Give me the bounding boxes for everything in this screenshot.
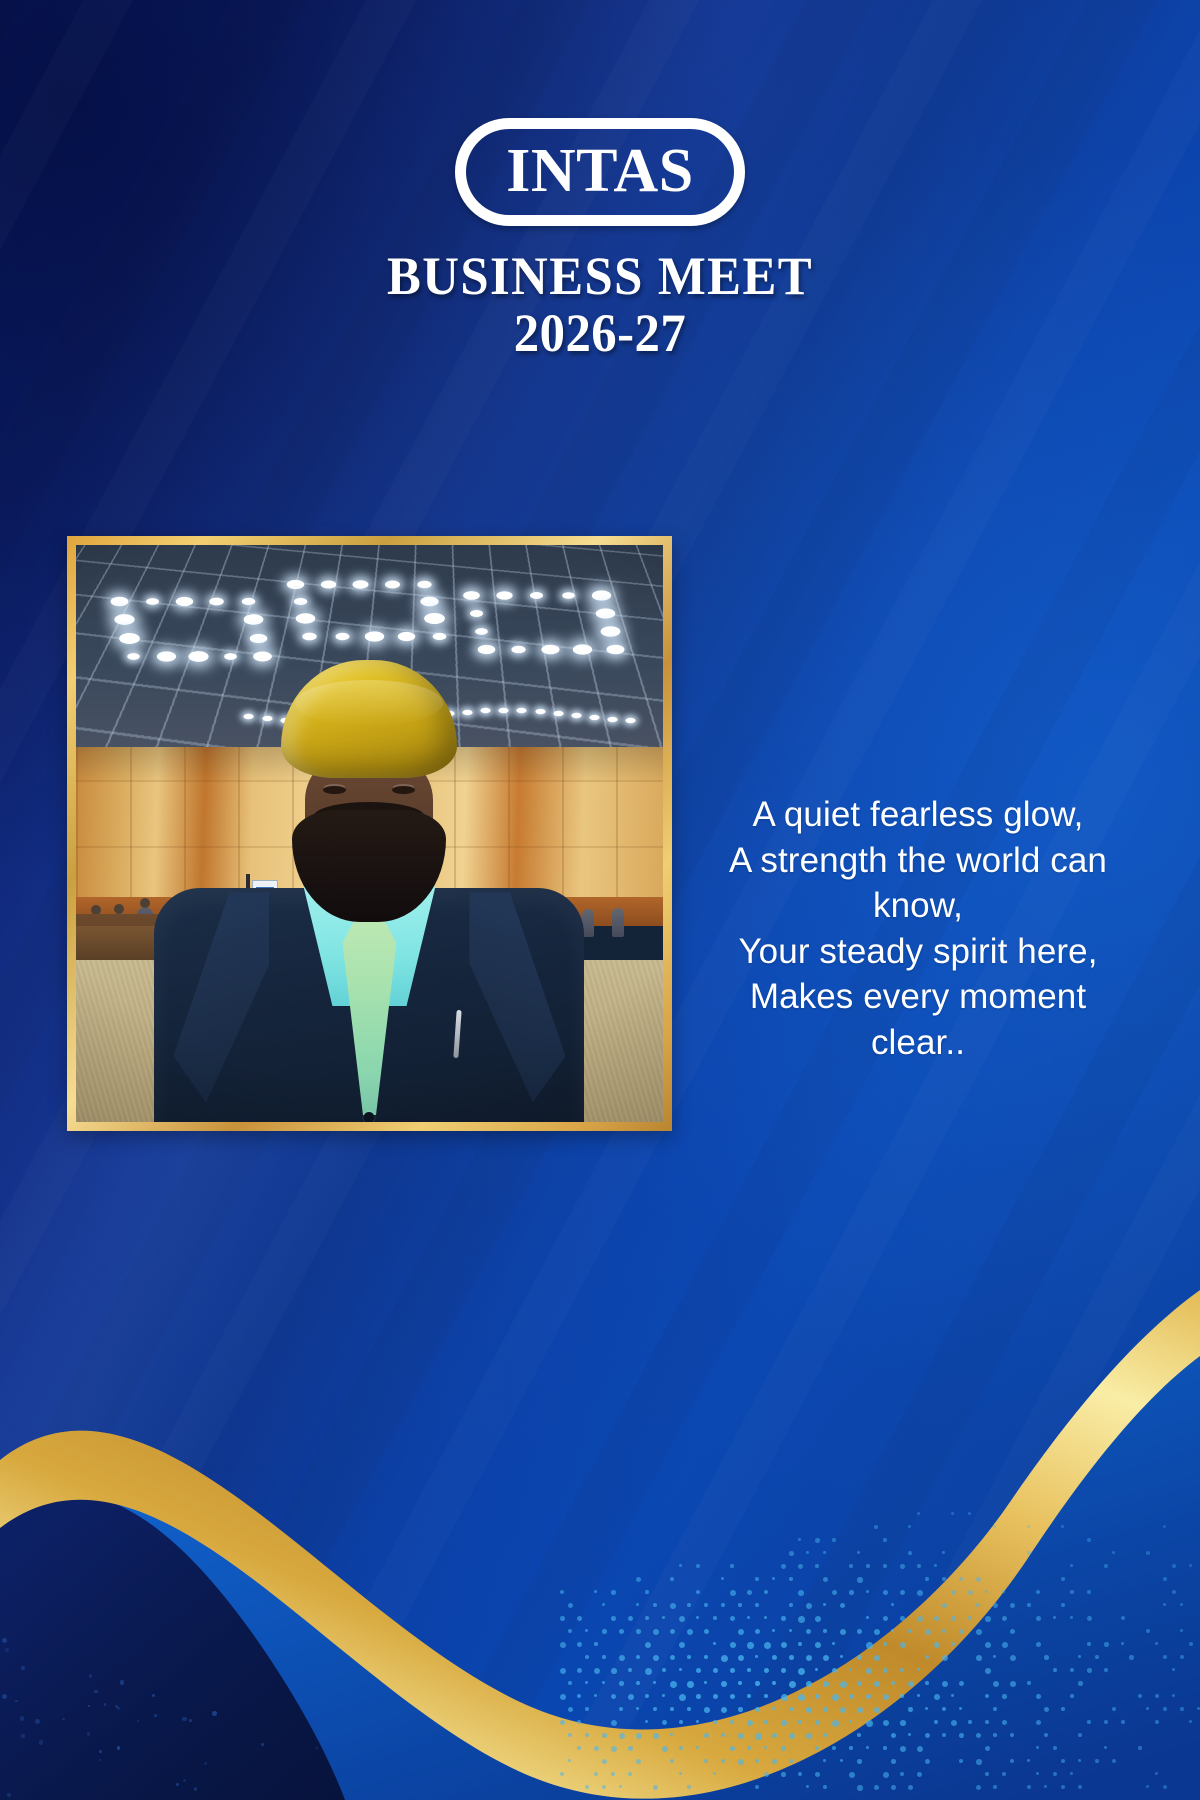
- poem-line: clear..: [668, 1020, 1168, 1066]
- photo-vignette: [76, 545, 663, 1122]
- poem-line: A strength the world can: [668, 838, 1168, 884]
- event-title: BUSINESS MEET: [36, 249, 1164, 304]
- logo-wordmark: INTAS: [455, 140, 745, 202]
- poem-line: Makes every moment: [668, 974, 1168, 1020]
- intas-logo: INTAS: [455, 118, 745, 226]
- poster-canvas: INTAS BUSINESS MEET 2026-27: [0, 0, 1200, 1800]
- poem-line: Your steady spirit here,: [668, 929, 1168, 975]
- poem-line: A quiet fearless glow,: [668, 792, 1168, 838]
- photo-image: [76, 545, 663, 1122]
- photo-frame: [67, 536, 672, 1131]
- poster-header: INTAS BUSINESS MEET 2026-27: [0, 118, 1200, 361]
- greeting-poem: A quiet fearless glow, A strength the wo…: [668, 792, 1168, 1065]
- bottom-wave-decoration: [0, 1160, 1200, 1800]
- event-year: 2026-27: [36, 306, 1164, 361]
- poem-line: know,: [668, 883, 1168, 929]
